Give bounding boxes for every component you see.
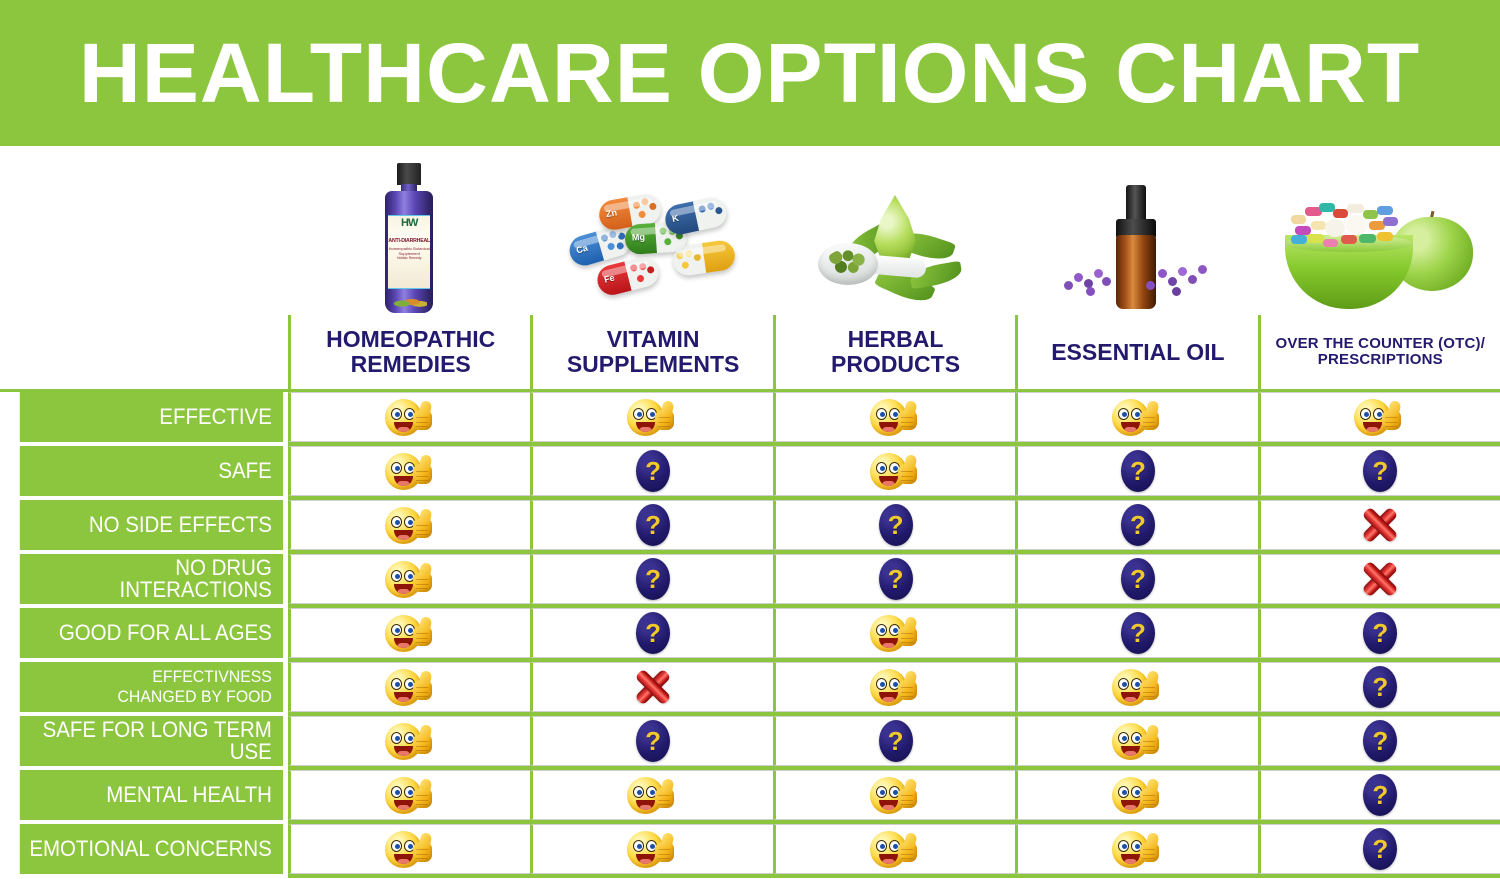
cell-4-4: ?	[1258, 608, 1500, 658]
lavender-bud	[1178, 267, 1187, 276]
smiley-eye	[391, 786, 402, 798]
smiley-eye	[391, 678, 402, 690]
cell-8-3	[1015, 824, 1260, 874]
title-bar: HEALTHCARE OPTIONS CHART	[0, 0, 1500, 146]
vitamin-image-cell: Ca Zn Mg	[530, 146, 772, 315]
row-label-mental-health: MENTAL HEALTH	[20, 770, 283, 820]
smiley-thumbs-up-icon	[870, 775, 922, 815]
question-mark-glyph: ?	[1372, 782, 1388, 808]
smiley-eye	[1118, 678, 1129, 690]
homeopathic-bottle-image: HW ANTI-DIARRHEAL Homeopathic Botanical …	[385, 163, 433, 313]
column-header-line: SUPPLEMENTS	[567, 352, 740, 377]
cell-6-0	[288, 716, 533, 766]
column-header-vitamin-supplements: VITAMIN SUPPLEMENTS	[530, 315, 772, 389]
cell-1-0	[288, 446, 533, 496]
thumbs-up-hand	[896, 401, 918, 431]
cell-7-4: ?	[1258, 770, 1500, 820]
question-mark-glyph: ?	[1130, 566, 1146, 592]
smiley-eye	[876, 462, 887, 474]
question-mark-icon: ?	[1121, 504, 1155, 546]
lavender-bud	[1086, 287, 1095, 296]
question-mark-icon: ?	[1121, 612, 1155, 654]
cell-7-3	[1015, 770, 1260, 820]
column-header-line: VITAMIN	[567, 327, 740, 352]
column-header-line: PRODUCTS	[831, 352, 960, 377]
thumbs-up-hand	[411, 779, 433, 809]
table-row: EFFECTIVNESSCHANGED BY FOOD?	[0, 662, 1500, 712]
row-label-safe: SAFE	[20, 446, 283, 496]
thumbs-up-hand	[896, 671, 918, 701]
cell-0-0	[288, 392, 533, 442]
question-mark-icon: ?	[1363, 720, 1397, 762]
cell-6-1: ?	[530, 716, 775, 766]
smiley-eye	[391, 840, 402, 852]
cell-3-4	[1258, 554, 1500, 604]
question-mark-icon: ?	[1363, 774, 1397, 816]
cell-7-0	[288, 770, 533, 820]
smiley-thumbs-up-icon	[385, 775, 437, 815]
cell-0-3	[1015, 392, 1260, 442]
question-mark-glyph: ?	[888, 566, 904, 592]
cell-6-3	[1015, 716, 1260, 766]
cell-2-0	[288, 500, 533, 550]
question-mark-icon: ?	[1121, 450, 1155, 492]
row-label-effectivness-changed-by-food: EFFECTIVNESSCHANGED BY FOOD	[20, 662, 283, 712]
cell-6-4: ?	[1258, 716, 1500, 766]
thumbs-up-hand	[896, 833, 918, 863]
smiley-eye	[391, 732, 402, 744]
smiley-eye	[1118, 786, 1129, 798]
ceramic-spoon	[818, 243, 924, 287]
smiley-eye	[876, 408, 887, 420]
homeopathic-image-cell: HW ANTI-DIARRHEAL Homeopathic Botanical …	[288, 146, 530, 315]
cell-4-1: ?	[530, 608, 775, 658]
thumbs-up-hand	[411, 725, 433, 755]
cell-8-4: ?	[1258, 824, 1500, 874]
table-row: MENTAL HEALTH?	[0, 770, 1500, 820]
smiley-thumbs-up-icon	[385, 667, 437, 707]
thumbs-up-hand	[653, 401, 675, 431]
herbal-products-image	[814, 191, 974, 313]
red-cross-icon	[1361, 560, 1399, 598]
smiley-thumbs-up-icon	[385, 397, 437, 437]
smiley-thumbs-up-icon	[627, 397, 679, 437]
question-mark-glyph: ?	[645, 620, 661, 646]
essential-oil-image-cell	[1015, 146, 1257, 315]
lavender-bud	[1102, 277, 1111, 286]
column-header-homeopathic-remedies: HOMEOPATHIC REMEDIES	[288, 315, 530, 389]
row-label-line: GOOD FOR ALL AGES	[59, 622, 272, 644]
cell-5-0	[288, 662, 533, 712]
row-label-safe-for-long-term-use: SAFE FOR LONG TERM USE	[20, 716, 283, 766]
lavender-bud	[1198, 265, 1207, 274]
question-mark-icon: ?	[636, 450, 670, 492]
smiley-eye	[633, 786, 644, 798]
capsule-red: Fe	[594, 254, 661, 298]
bottle-label-title: ANTI-DIARRHEAL	[388, 238, 430, 244]
question-mark-glyph: ?	[888, 512, 904, 538]
thumbs-up-hand	[653, 833, 675, 863]
row-label-good-for-all-ages: GOOD FOR ALL AGES	[20, 608, 283, 658]
cell-8-1	[530, 824, 775, 874]
table-body: EFFECTIVESAFE???NO SIDE EFFECTS???NO DRU…	[0, 392, 1500, 878]
question-mark-icon: ?	[636, 504, 670, 546]
column-header-line: HERBAL	[831, 327, 960, 352]
cell-0-2	[773, 392, 1018, 442]
smiley-eye	[1118, 732, 1129, 744]
smiley-thumbs-up-icon	[627, 829, 679, 869]
smiley-thumbs-up-icon	[385, 559, 437, 599]
dropper-cap	[1126, 185, 1146, 223]
smiley-eye	[391, 570, 402, 582]
red-cross-icon	[634, 668, 672, 706]
smiley-thumbs-up-icon	[870, 451, 922, 491]
smiley-eye	[391, 408, 402, 420]
cell-4-0	[288, 608, 533, 658]
amber-vial	[1116, 235, 1156, 309]
smiley-thumbs-up-icon	[385, 721, 437, 761]
lavender-bud	[1172, 287, 1181, 296]
smiley-thumbs-up-icon	[870, 397, 922, 437]
thumbs-up-hand	[1138, 725, 1160, 755]
cell-5-1	[530, 662, 775, 712]
question-mark-icon: ?	[1363, 450, 1397, 492]
pill-pile	[1289, 201, 1401, 247]
smiley-eye	[1118, 840, 1129, 852]
cell-1-4: ?	[1258, 446, 1500, 496]
column-header-line: ESSENTIAL OIL	[1051, 340, 1224, 365]
table-row: EFFECTIVE	[0, 392, 1500, 442]
row-label-emotional-concerns: EMOTIONAL CONCERNS	[20, 824, 283, 874]
row-label-no-side-effects: NO SIDE EFFECTS	[20, 500, 283, 550]
table-row: SAFE FOR LONG TERM USE???	[0, 716, 1500, 766]
cell-5-3	[1015, 662, 1260, 712]
bottle-logo-text: HW	[401, 218, 417, 229]
question-mark-glyph: ?	[1130, 512, 1146, 538]
smiley-eye	[633, 840, 644, 852]
lavender-bud	[1168, 277, 1177, 286]
question-mark-icon: ?	[879, 558, 913, 600]
column-header-line: OVER THE COUNTER (OTC)/	[1276, 336, 1486, 352]
smiley-thumbs-up-icon	[870, 829, 922, 869]
row-label-line: SAFE FOR LONG TERM USE	[20, 719, 272, 763]
cell-8-2	[773, 824, 1018, 874]
cell-2-4	[1258, 500, 1500, 550]
cell-3-1: ?	[530, 554, 775, 604]
cell-3-0	[288, 554, 533, 604]
cell-1-3: ?	[1015, 446, 1260, 496]
cell-4-3: ?	[1015, 608, 1260, 658]
table-row: GOOD FOR ALL AGES???	[0, 608, 1500, 658]
thumbs-up-hand	[896, 455, 918, 485]
thumbs-up-hand	[411, 833, 433, 863]
page-title: HEALTHCARE OPTIONS CHART	[79, 31, 1420, 115]
thumbs-up-hand	[1138, 779, 1160, 809]
smiley-eye	[633, 408, 644, 420]
thumbs-up-hand	[896, 779, 918, 809]
smiley-thumbs-up-icon	[385, 451, 437, 491]
smiley-thumbs-up-icon	[1112, 667, 1164, 707]
row-label-no-drug-interactions: NO DRUG INTERACTIONS	[20, 554, 283, 604]
row-label-line: EFFECTIVE	[159, 406, 272, 428]
question-mark-glyph: ?	[1372, 620, 1388, 646]
question-mark-glyph: ?	[1372, 728, 1388, 754]
cell-8-0	[288, 824, 533, 874]
smiley-eye	[1360, 408, 1371, 420]
cell-7-2	[773, 770, 1018, 820]
question-mark-glyph: ?	[645, 458, 661, 484]
smiley-eye	[876, 678, 887, 690]
otc-prescriptions-image	[1279, 191, 1479, 313]
smiley-thumbs-up-icon	[870, 667, 922, 707]
bottle-botanical-art	[391, 294, 427, 310]
cell-3-3: ?	[1015, 554, 1260, 604]
bottle-cap	[397, 163, 421, 185]
question-mark-icon: ?	[1363, 666, 1397, 708]
smiley-eye	[876, 840, 887, 852]
bottle-label-sub2: Holistic Remedy	[397, 256, 422, 260]
smiley-thumbs-up-icon	[385, 829, 437, 869]
thumbs-up-hand	[1138, 833, 1160, 863]
question-mark-icon: ?	[1363, 612, 1397, 654]
smiley-thumbs-up-icon	[1112, 397, 1164, 437]
cell-3-2: ?	[773, 554, 1018, 604]
red-cross-icon	[1361, 506, 1399, 544]
column-header-line: REMEDIES	[326, 352, 495, 377]
thumbs-up-hand	[411, 455, 433, 485]
row-label-line: MENTAL HEALTH	[106, 784, 272, 806]
table-row: EMOTIONAL CONCERNS?	[0, 824, 1500, 874]
thumbs-up-hand	[1380, 401, 1402, 431]
row-divider	[0, 874, 1500, 878]
image-strip-spacer	[0, 146, 288, 315]
table-row: SAFE???	[0, 446, 1500, 496]
question-mark-glyph: ?	[645, 566, 661, 592]
smiley-thumbs-up-icon	[1112, 721, 1164, 761]
question-mark-icon: ?	[879, 504, 913, 546]
cell-2-3: ?	[1015, 500, 1260, 550]
smiley-thumbs-up-icon	[870, 613, 922, 653]
essential-oil-image	[1046, 185, 1226, 313]
smiley-eye	[391, 624, 402, 636]
thumbs-up-hand	[653, 779, 675, 809]
question-mark-icon: ?	[1121, 558, 1155, 600]
lavender-bud	[1064, 281, 1073, 290]
cell-0-1	[530, 392, 775, 442]
question-mark-icon: ?	[636, 720, 670, 762]
smiley-thumbs-up-icon	[385, 505, 437, 545]
smiley-eye	[391, 462, 402, 474]
cell-0-4	[1258, 392, 1500, 442]
row-label-line: NO SIDE EFFECTS	[89, 514, 272, 536]
question-mark-glyph: ?	[645, 512, 661, 538]
thumbs-up-hand	[411, 509, 433, 539]
row-label-line: EFFECTIVNESS	[118, 667, 272, 687]
cell-5-2	[773, 662, 1018, 712]
table-row: NO DRUG INTERACTIONS???	[0, 554, 1500, 604]
lavender-bud	[1188, 275, 1197, 284]
column-header-line: PRESCRIPTIONS	[1276, 352, 1486, 368]
cell-1-2	[773, 446, 1018, 496]
thumbs-up-hand	[411, 401, 433, 431]
row-label-line: SAFE	[218, 460, 271, 482]
smiley-eye	[876, 786, 887, 798]
question-mark-glyph: ?	[1372, 836, 1388, 862]
product-image-strip: HW ANTI-DIARRHEAL Homeopathic Botanical …	[0, 146, 1500, 315]
smiley-thumbs-up-icon	[1112, 775, 1164, 815]
thumbs-up-hand	[411, 671, 433, 701]
question-mark-glyph: ?	[888, 728, 904, 754]
dried-herbs	[826, 249, 870, 277]
thumbs-up-hand	[411, 563, 433, 593]
column-header-otc-prescriptions: OVER THE COUNTER (OTC)/ PRESCRIPTIONS	[1258, 315, 1500, 389]
thumbs-up-hand	[1138, 671, 1160, 701]
column-header-herbal-products: HERBAL PRODUCTS	[773, 315, 1015, 389]
row-label-effective: EFFECTIVE	[20, 392, 283, 442]
herbal-image-cell	[773, 146, 1015, 315]
cell-4-2	[773, 608, 1018, 658]
cell-2-1: ?	[530, 500, 775, 550]
smiley-thumbs-up-icon	[1112, 829, 1164, 869]
question-mark-glyph: ?	[1130, 620, 1146, 646]
header-corner-cell	[0, 315, 283, 389]
column-header-essential-oil: ESSENTIAL OIL	[1015, 315, 1257, 389]
question-mark-glyph: ?	[1130, 458, 1146, 484]
vitamin-capsules-image: Ca Zn Mg	[557, 193, 747, 313]
smiley-thumbs-up-icon	[385, 613, 437, 653]
question-mark-glyph: ?	[645, 728, 661, 754]
question-mark-icon: ?	[879, 720, 913, 762]
comparison-table: HOMEOPATHIC REMEDIES VITAMIN SUPPLEMENTS…	[0, 315, 1500, 879]
smiley-thumbs-up-icon	[1354, 397, 1406, 437]
cell-6-2: ?	[773, 716, 1018, 766]
question-mark-icon: ?	[1363, 828, 1397, 870]
row-label-line: EMOTIONAL CONCERNS	[29, 838, 272, 860]
thumbs-up-hand	[1138, 401, 1160, 431]
row-label-line: NO DRUG INTERACTIONS	[20, 557, 272, 601]
capsule-window	[624, 254, 661, 291]
bottle-label: HW ANTI-DIARRHEAL Homeopathic Botanical …	[388, 215, 430, 289]
question-mark-icon: ?	[636, 558, 670, 600]
row-label-line: CHANGED BY FOOD	[118, 687, 272, 707]
thumbs-up-hand	[411, 617, 433, 647]
question-mark-icon: ?	[636, 612, 670, 654]
cell-2-2: ?	[773, 500, 1018, 550]
cell-5-4: ?	[1258, 662, 1500, 712]
question-mark-glyph: ?	[1372, 458, 1388, 484]
lavender-bud	[1094, 269, 1103, 278]
thumbs-up-hand	[896, 617, 918, 647]
question-mark-glyph: ?	[1372, 674, 1388, 700]
column-header-line: HOMEOPATHIC	[326, 327, 495, 352]
capsule-window	[692, 195, 729, 231]
table-header-row: HOMEOPATHIC REMEDIES VITAMIN SUPPLEMENTS…	[0, 315, 1500, 389]
smiley-eye	[1118, 408, 1129, 420]
cell-1-1: ?	[530, 446, 775, 496]
bottle-label-sub1: Homeopathic Botanical Supplement	[388, 246, 430, 256]
lavender-bud	[1158, 269, 1167, 278]
otc-image-cell	[1258, 146, 1500, 315]
lavender-bud	[1074, 273, 1083, 282]
table-row: NO SIDE EFFECTS???	[0, 500, 1500, 550]
smiley-eye	[876, 624, 887, 636]
smiley-thumbs-up-icon	[627, 775, 679, 815]
cell-7-1	[530, 770, 775, 820]
smiley-eye	[391, 516, 402, 528]
capsule-navy: K	[662, 195, 729, 237]
